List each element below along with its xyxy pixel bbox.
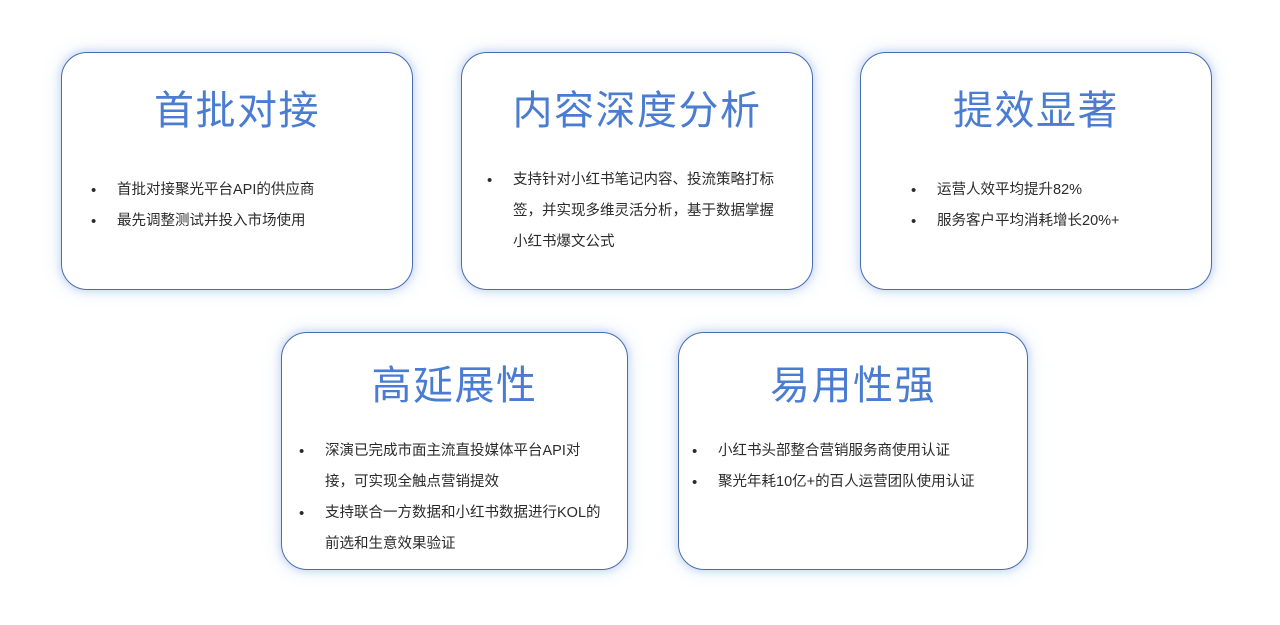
bullet-dot-icon: • xyxy=(911,175,937,206)
list-item: • 支持联合一方数据和小红书数据进行KOL的前选和生意效果验证 xyxy=(299,498,627,560)
bullet-dot-icon: • xyxy=(911,206,937,237)
bullet-dot-icon: • xyxy=(91,175,117,206)
bullet-text: 小红书头部整合营销服务商使用认证 xyxy=(718,436,1000,467)
card-bullet-list: • 小红书头部整合营销服务商使用认证 • 聚光年耗10亿+的百人运营团队使用认证 xyxy=(679,436,1027,498)
card-title: 首批对接 xyxy=(62,91,412,131)
bullet-text: 最先调整测试并投入市场使用 xyxy=(117,206,412,237)
bullet-dot-icon: • xyxy=(487,165,513,196)
bullet-text: 聚光年耗10亿+的百人运营团队使用认证 xyxy=(718,467,1000,498)
slide-canvas: 首批对接 • 首批对接聚光平台API的供应商 • 最先调整测试并投入市场使用 内… xyxy=(0,0,1280,625)
feature-card-first-integration[interactable]: 首批对接 • 首批对接聚光平台API的供应商 • 最先调整测试并投入市场使用 xyxy=(61,52,413,290)
card-title: 高延展性 xyxy=(282,366,627,406)
bullet-text: 支持针对小红书笔记内容、投流策略打标签，并实现多维灵活分析，基于数据掌握小红书爆… xyxy=(513,165,781,258)
bullet-text: 服务客户平均消耗增长20%+ xyxy=(937,206,1211,237)
feature-card-ease-of-use[interactable]: 易用性强 • 小红书头部整合营销服务商使用认证 • 聚光年耗10亿+的百人运营团… xyxy=(678,332,1028,570)
list-item: • 首批对接聚光平台API的供应商 xyxy=(91,175,412,206)
feature-card-extensibility[interactable]: 高延展性 • 深演已完成市面主流直投媒体平台API对接，可实现全触点营销提效 •… xyxy=(281,332,628,570)
list-item: • 支持针对小红书笔记内容、投流策略打标签，并实现多维灵活分析，基于数据掌握小红… xyxy=(487,165,812,258)
list-item: • 深演已完成市面主流直投媒体平台API对接，可实现全触点营销提效 xyxy=(299,436,627,498)
list-item: • 聚光年耗10亿+的百人运营团队使用认证 xyxy=(692,467,1027,498)
card-bullet-list: • 运营人效平均提升82% • 服务客户平均消耗增长20%+ xyxy=(861,175,1211,237)
list-item: • 最先调整测试并投入市场使用 xyxy=(91,206,412,237)
bullet-text: 首批对接聚光平台API的供应商 xyxy=(117,175,412,206)
card-bullet-list: • 支持针对小红书笔记内容、投流策略打标签，并实现多维灵活分析，基于数据掌握小红… xyxy=(462,165,812,258)
feature-card-content-analysis[interactable]: 内容深度分析 • 支持针对小红书笔记内容、投流策略打标签，并实现多维灵活分析，基… xyxy=(461,52,813,290)
card-bullet-list: • 深演已完成市面主流直投媒体平台API对接，可实现全触点营销提效 • 支持联合… xyxy=(282,436,627,560)
card-title: 提效显著 xyxy=(861,91,1211,131)
bullet-dot-icon: • xyxy=(299,498,325,529)
feature-card-efficiency-gain[interactable]: 提效显著 • 运营人效平均提升82% • 服务客户平均消耗增长20%+ xyxy=(860,52,1212,290)
list-item: • 小红书头部整合营销服务商使用认证 xyxy=(692,436,1027,467)
list-item: • 运营人效平均提升82% xyxy=(911,175,1211,206)
bullet-dot-icon: • xyxy=(91,206,117,237)
bullet-text: 深演已完成市面主流直投媒体平台API对接，可实现全触点营销提效 xyxy=(325,436,605,498)
bullet-text: 支持联合一方数据和小红书数据进行KOL的前选和生意效果验证 xyxy=(325,498,605,560)
bullet-dot-icon: • xyxy=(692,467,718,498)
list-item: • 服务客户平均消耗增长20%+ xyxy=(911,206,1211,237)
bullet-dot-icon: • xyxy=(692,436,718,467)
bullet-text: 运营人效平均提升82% xyxy=(937,175,1211,206)
card-bullet-list: • 首批对接聚光平台API的供应商 • 最先调整测试并投入市场使用 xyxy=(62,175,412,237)
card-title: 内容深度分析 xyxy=(462,91,812,131)
bullet-dot-icon: • xyxy=(299,436,325,467)
card-title: 易用性强 xyxy=(679,366,1027,406)
